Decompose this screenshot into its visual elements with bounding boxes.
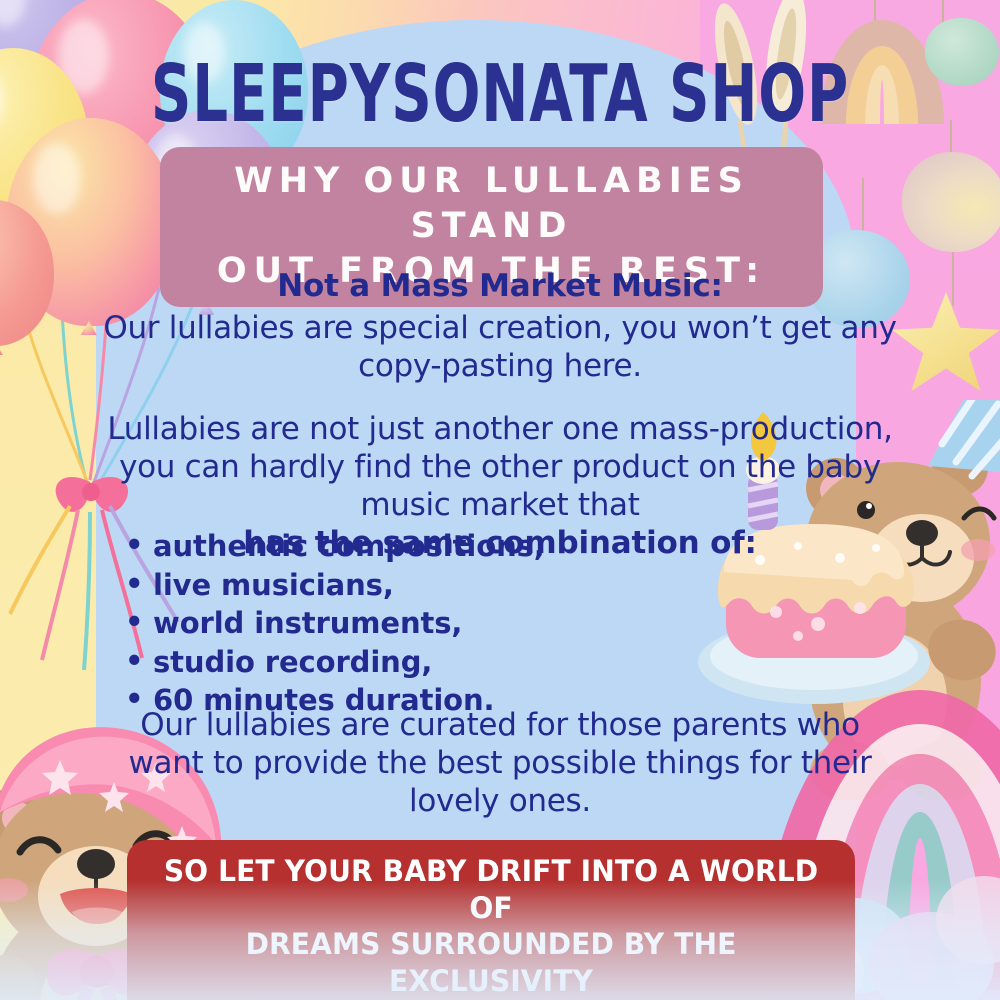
garland-string [862, 178, 864, 236]
garland-circle-mint [925, 18, 999, 86]
subtitle-line-1: WHY OUR LULLABIES STAND [170, 159, 813, 249]
paragraph-2-text: Lullabies are not just another one mass-… [107, 411, 892, 523]
garland-string [952, 250, 954, 306]
background-bottom-fade [0, 880, 1000, 1000]
poster-canvas: SLEEPYSONATA SHOP WHY OUR LULLABIES STAN… [0, 0, 1000, 1000]
lead-heading: Not a Mass Market Music: [100, 268, 900, 306]
balloon-highlight [0, 0, 26, 27]
page-title: SLEEPYSONATA SHOP [80, 48, 920, 140]
feature-bullet-list: authentic compositions, live musicians, … [125, 527, 545, 720]
list-item: authentic compositions, [125, 527, 545, 566]
garland-circle-beige [902, 152, 1000, 252]
list-item: live musicians, [125, 566, 545, 605]
list-item: world instruments, [125, 604, 545, 643]
body-copy: Not a Mass Market Music: Our lullabies a… [100, 268, 900, 563]
balloon-highlight [33, 143, 81, 214]
list-item: studio recording, [125, 643, 545, 682]
outro-paragraph: Our lullabies are curated for those pare… [100, 706, 900, 820]
paragraph-1: Our lullabies are special creation, you … [100, 310, 900, 386]
balloon-highlight [0, 70, 4, 132]
